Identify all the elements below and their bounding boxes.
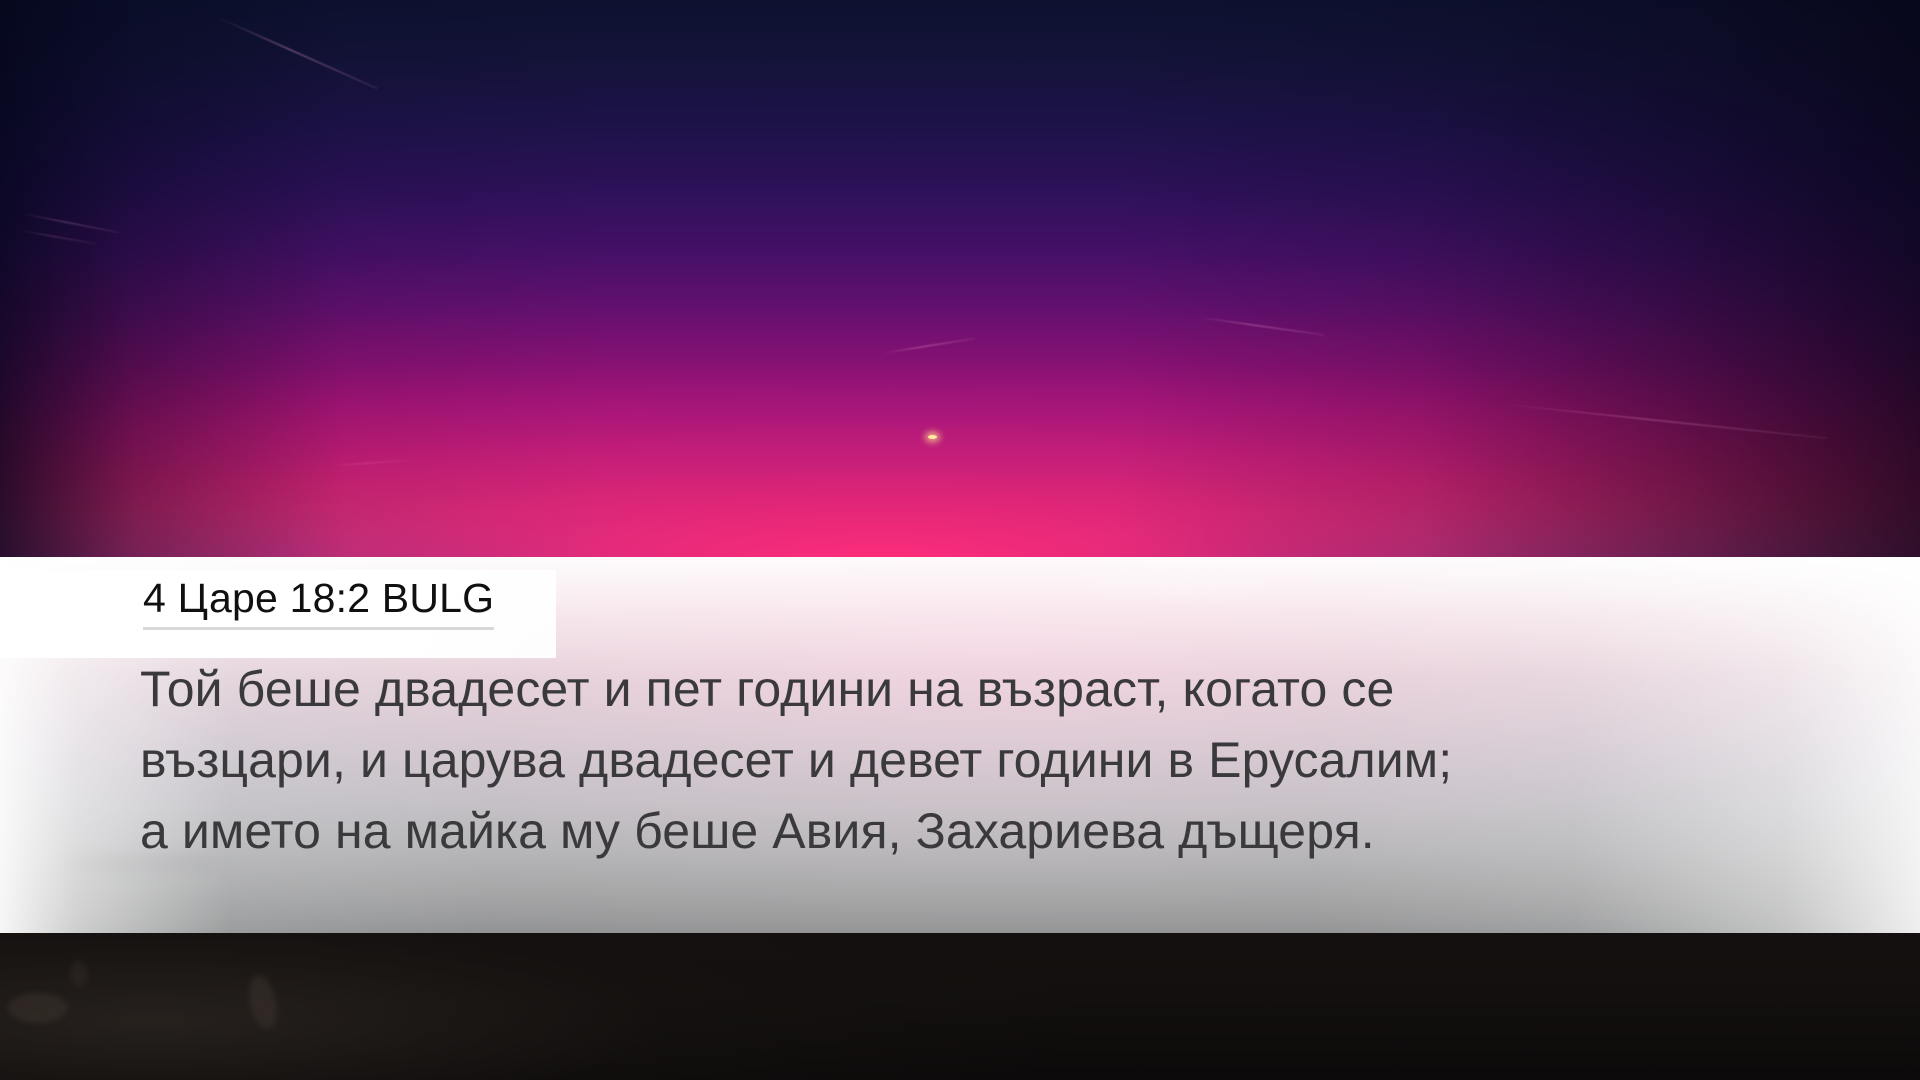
verse-body: Той беше двадесет и пет години на възрас… xyxy=(140,654,1780,867)
shore-rock xyxy=(70,961,88,987)
shore-rock xyxy=(8,993,68,1023)
sky-vignette xyxy=(0,0,1920,560)
verse-reference: 4 Царе 18:2 BULG xyxy=(143,578,494,630)
caption-panel: 4 Царе 18:2 BULG Той беше двадесет и пет… xyxy=(0,557,1920,933)
verse-line: възцари, и царува двадесет и девет годин… xyxy=(140,725,1780,796)
shore-rock xyxy=(245,973,282,1031)
verse-slide: 4 Царе 18:2 BULG Той беше двадесет и пет… xyxy=(0,0,1920,1080)
water-reflection xyxy=(1080,577,1270,593)
water-reflection xyxy=(760,603,890,613)
verse-line: Той беше двадесет и пет години на възрас… xyxy=(140,654,1780,725)
verse-line: а името на майка му беше Авия, Захариева… xyxy=(140,796,1780,867)
foreground-shore xyxy=(0,933,1920,1080)
sun-glint-icon xyxy=(928,435,937,439)
